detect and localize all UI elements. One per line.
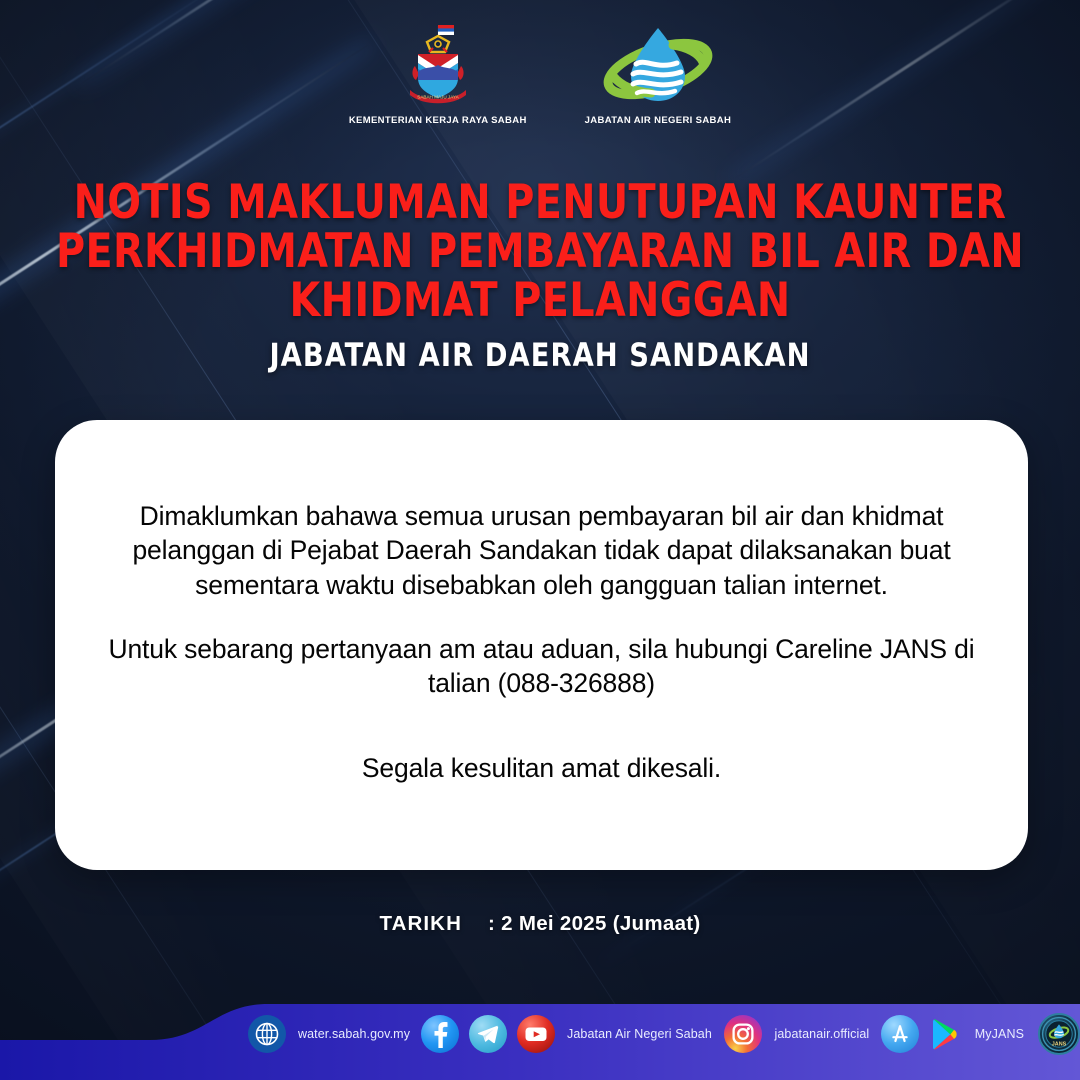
google-play-icon[interactable] (929, 1015, 963, 1053)
date-value: 2 Mei 2025 (Jumaat) (501, 912, 700, 935)
date-row: TARIKH: 2 Mei 2025 (Jumaat) (0, 912, 1080, 936)
globe-icon[interactable] (248, 1015, 286, 1053)
ministry-logo-block: SABAH MAJU JAYA KEMENTERIAN KERJA RAYA S… (349, 22, 527, 126)
logo-header: SABAH MAJU JAYA KEMENTERIAN KERJA RAYA S… (0, 22, 1080, 126)
facebook-icon[interactable] (421, 1015, 459, 1053)
footer-instagram-label[interactable]: jabatanair.official (774, 1027, 869, 1041)
notice-paragraph-1: Dimaklumkan bahawa semua urusan pembayar… (107, 499, 976, 602)
jans-logo-block: JABATAN AIR NEGERI SABAH (585, 22, 732, 126)
title-line-2: PERKHIDMATAN PEMBAYARAN BIL AIR DAN (32, 227, 1047, 276)
footer-bar: water.sabah.gov.my (0, 988, 1080, 1080)
sabah-coat-of-arms-icon: SABAH MAJU JAYA (405, 22, 471, 106)
date-separator: : (488, 912, 495, 935)
jans-water-drop-icon (599, 22, 717, 106)
youtube-icon[interactable] (517, 1015, 555, 1053)
page-title: NOTIS MAKLUMAN PENUTUPAN KAUNTER PERKHID… (0, 178, 1080, 374)
title-line-3: KHIDMAT PELANGGAN (32, 276, 1047, 325)
notice-paragraph-3: Segala kesulitan amat dikesali. (107, 751, 976, 785)
instagram-icon[interactable] (724, 1015, 762, 1053)
ministry-logo-caption: KEMENTERIAN KERJA RAYA SABAH (349, 115, 527, 126)
title-subtitle: JABATAN AIR DAERAH SANDAKAN (27, 336, 1053, 374)
app-store-icon[interactable] (881, 1015, 919, 1053)
jans-logo-caption: JABATAN AIR NEGERI SABAH (585, 115, 732, 126)
title-line-1: NOTIS MAKLUMAN PENUTUPAN KAUNTER (32, 178, 1047, 227)
spacer (107, 602, 976, 632)
footer-website-label[interactable]: water.sabah.gov.my (298, 1027, 410, 1041)
svg-text:JANS: JANS (1052, 1041, 1067, 1047)
svg-text:SABAH MAJU JAYA: SABAH MAJU JAYA (417, 95, 459, 100)
footer-instagram-group[interactable]: jabatanair.official (724, 1015, 869, 1053)
telegram-icon[interactable] (469, 1015, 507, 1053)
footer-social-group[interactable]: Jabatan Air Negeri Sabah (421, 1015, 712, 1053)
footer-app-label[interactable]: MyJANS (975, 1027, 1024, 1041)
notice-card: Dimaklumkan bahawa semua urusan pembayar… (55, 420, 1028, 870)
footer-social-label[interactable]: Jabatan Air Negeri Sabah (567, 1027, 712, 1041)
footer-website-group[interactable]: water.sabah.gov.my (248, 1015, 410, 1053)
spacer (107, 701, 976, 751)
footer-app-group[interactable]: MyJANS JANS (881, 1013, 1080, 1055)
notice-paragraph-2: Untuk sebarang pertanyaan am atau aduan,… (107, 632, 976, 701)
date-label: TARIKH (379, 912, 462, 935)
jans-seal-icon[interactable]: JANS (1038, 1013, 1080, 1055)
